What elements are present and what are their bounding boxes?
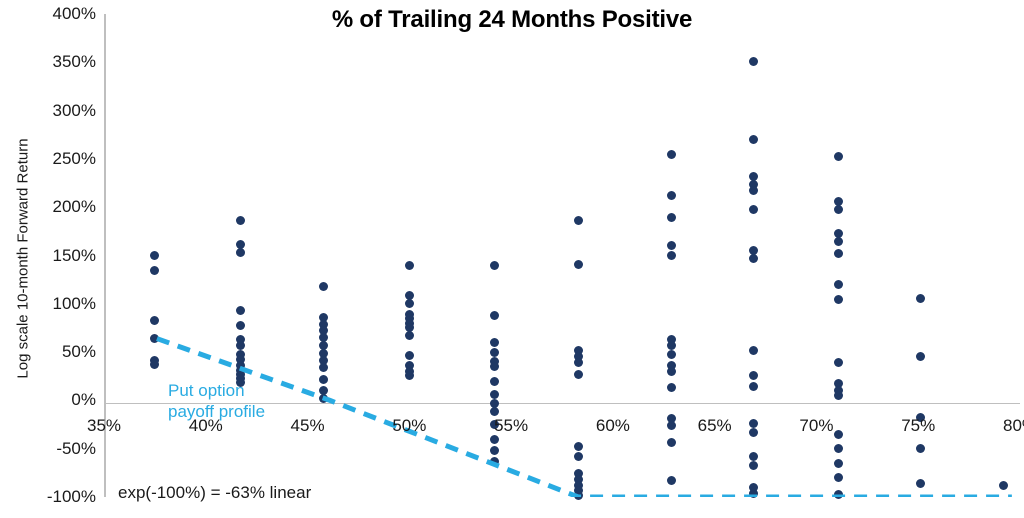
scatter-point: [405, 371, 414, 380]
scatter-point: [490, 446, 499, 455]
scatter-point: [834, 358, 843, 367]
x-axis-tick-label: 80%: [980, 416, 1024, 436]
x-axis-tick-label: 65%: [675, 416, 755, 436]
scatter-point: [667, 367, 676, 376]
x-axis-tick-label: 75%: [878, 416, 958, 436]
scatter-point: [490, 338, 499, 347]
scatter-point: [405, 331, 414, 340]
scatter-point: [490, 348, 499, 357]
scatter-point: [236, 341, 245, 350]
scatter-point: [490, 261, 499, 270]
annotation-line-2: payoff profile: [168, 401, 308, 422]
scatter-point: [574, 370, 583, 379]
scatter-point: [667, 350, 676, 359]
x-axis-tick-label: 70%: [776, 416, 856, 436]
scatter-point: [490, 390, 499, 399]
scatter-point: [749, 489, 758, 498]
scatter-point: [916, 294, 925, 303]
y-axis-tick-label: 200%: [34, 197, 96, 217]
scatter-point: [490, 311, 499, 320]
scatter-point: [834, 473, 843, 482]
annotation-put-option-payoff-profile: Put option payoff profile: [168, 380, 308, 423]
scatter-point: [834, 237, 843, 246]
scatter-point: [999, 481, 1008, 490]
scatter-point: [319, 394, 328, 403]
y-axis-tick-labels: -100%-50%0%50%100%150%200%250%300%350%40…: [34, 0, 96, 518]
y-axis-tick-label: 100%: [34, 294, 96, 314]
x-axis-tick-label: 60%: [573, 416, 653, 436]
scatter-point: [667, 251, 676, 260]
scatter-point: [150, 360, 159, 369]
scatter-point: [574, 358, 583, 367]
scatter-point: [834, 249, 843, 258]
scatter-point: [490, 362, 499, 371]
scatter-point: [749, 452, 758, 461]
scatter-point: [319, 363, 328, 372]
scatter-point: [834, 229, 843, 238]
y-axis-title: Log scale 10-month Forward Return: [15, 99, 32, 419]
y-axis-tick-label: 50%: [34, 342, 96, 362]
scatter-point: [916, 479, 925, 488]
scatter-point: [834, 280, 843, 289]
y-axis-tick-label: 250%: [34, 149, 96, 169]
scatter-point: [405, 299, 414, 308]
scatter-point: [749, 205, 758, 214]
scatter-point: [667, 383, 676, 392]
annotation-line-1: Put option: [168, 380, 308, 401]
x-axis-tick-label: 55%: [471, 416, 551, 436]
scatter-point: [236, 248, 245, 257]
scatter-point: [319, 282, 328, 291]
scatter-point: [236, 216, 245, 225]
x-axis-tick-label: 35%: [64, 416, 144, 436]
scatter-point: [749, 254, 758, 263]
y-axis-tick-label: 400%: [34, 4, 96, 24]
scatter-point: [405, 291, 414, 300]
scatter-point: [150, 316, 159, 325]
scatter-point: [405, 351, 414, 360]
scatter-point: [749, 382, 758, 391]
scatter-point: [150, 251, 159, 260]
scatter-point: [749, 346, 758, 355]
scatter-point: [749, 371, 758, 380]
scatter-point: [490, 457, 499, 466]
scatter-point: [574, 216, 583, 225]
scatter-point: [574, 452, 583, 461]
y-axis-tick-label: -100%: [34, 487, 96, 507]
scatter-point: [749, 461, 758, 470]
scatter-point: [574, 260, 583, 269]
scatter-point: [405, 261, 414, 270]
scatter-point: [574, 491, 583, 500]
scatter-point: [490, 399, 499, 408]
scatter-point: [749, 135, 758, 144]
scatter-point: [749, 186, 758, 195]
y-axis-tick-label: -50%: [34, 439, 96, 459]
y-axis-tick-label: 0%: [34, 390, 96, 410]
scatter-point: [834, 205, 843, 214]
scatter-point: [574, 442, 583, 451]
scatter-point: [916, 352, 925, 361]
scatter-point: [667, 213, 676, 222]
scatter-point: [667, 241, 676, 250]
y-axis-tick-label: 300%: [34, 101, 96, 121]
scatter-point: [834, 444, 843, 453]
scatter-point: [236, 306, 245, 315]
scatter-point: [667, 191, 676, 200]
scatter-point: [834, 391, 843, 400]
scatter-point: [236, 321, 245, 330]
scatter-chart: % of Trailing 24 Months Positive Log sca…: [0, 0, 1024, 518]
scatter-point: [490, 377, 499, 386]
scatter-point: [834, 459, 843, 468]
scatter-point: [667, 150, 676, 159]
scatter-point: [834, 152, 843, 161]
annotation-exp-note: exp(-100%) = -63% linear: [118, 483, 311, 503]
y-axis-tick-label: 350%: [34, 52, 96, 72]
scatter-point: [150, 266, 159, 275]
scatter-point: [916, 444, 925, 453]
scatter-point: [667, 476, 676, 485]
scatter-point: [150, 334, 159, 343]
x-axis-tick-label: 50%: [369, 416, 449, 436]
scatter-point: [667, 438, 676, 447]
scatter-point: [667, 341, 676, 350]
scatter-point: [319, 375, 328, 384]
y-axis-tick-label: 150%: [34, 246, 96, 266]
scatter-point: [749, 57, 758, 66]
scatter-point: [834, 295, 843, 304]
scatter-point: [834, 490, 843, 499]
